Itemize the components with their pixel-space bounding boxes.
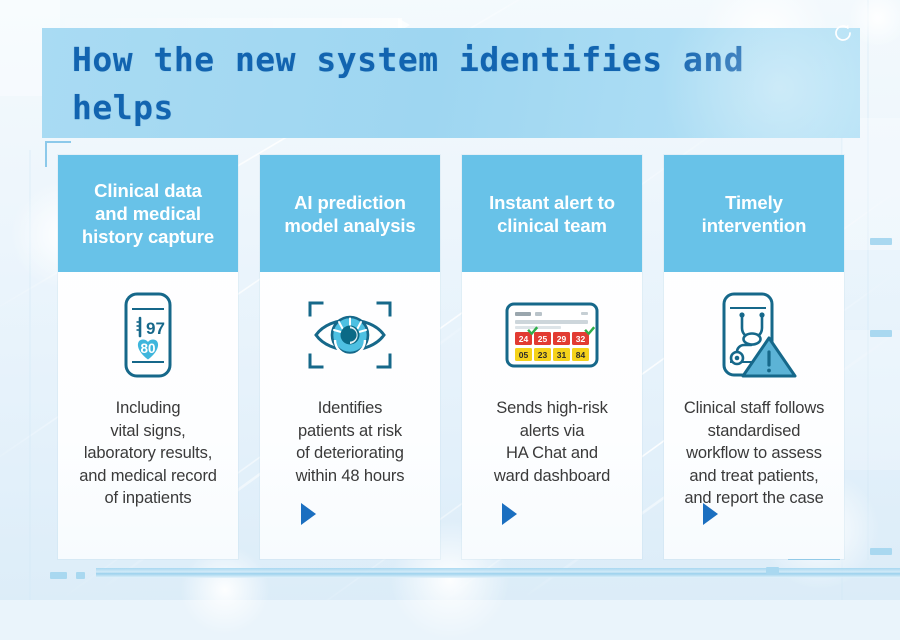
- dash-mark: [870, 238, 892, 245]
- dash-mark: [870, 330, 892, 337]
- svg-text:84: 84: [576, 350, 586, 360]
- svg-text:05: 05: [519, 350, 529, 360]
- step-heading-2: AI prediction model analysis: [260, 155, 440, 272]
- step-body-2: Identifies patients at risk of deteriora…: [292, 397, 409, 487]
- dash-mark: [870, 548, 892, 555]
- dash-mark: [50, 572, 67, 579]
- dash-mark: [766, 567, 779, 574]
- step-heading-3: Instant alert to clinical team: [462, 155, 642, 272]
- svg-text:31: 31: [557, 350, 567, 360]
- svg-text:23: 23: [538, 350, 548, 360]
- step-heading-1: Clinical data and medical history captur…: [58, 155, 238, 272]
- connector-arrow-2: [502, 503, 517, 525]
- step-icon-1: 97 80: [119, 272, 177, 397]
- step-card-3[interactable]: Instant alert to clinical team 24 25: [462, 155, 642, 559]
- scanning-eye-icon: [306, 299, 394, 371]
- svg-text:25: 25: [538, 334, 548, 344]
- step-card-4[interactable]: Timely intervention: [664, 155, 844, 559]
- svg-text:24: 24: [519, 334, 529, 344]
- step-body-1: Including vital signs, laboratory result…: [75, 397, 221, 510]
- stethoscope-warning-icon: [711, 290, 797, 380]
- step-card-2[interactable]: AI prediction model analysis: [260, 155, 440, 559]
- step-card-1[interactable]: Clinical data and medical history captur…: [58, 155, 238, 559]
- phone-vitals-icon: 97 80: [119, 291, 177, 379]
- svg-text:32: 32: [576, 334, 586, 344]
- connector-arrow-3: [703, 503, 718, 525]
- step-body-3: Sends high-risk alerts via HA Chat and w…: [490, 397, 614, 487]
- page-title: How the new system identifies and helps …: [72, 36, 832, 138]
- process-steps: Clinical data and medical history captur…: [58, 155, 844, 559]
- step-body-4: Clinical staff follows standardised work…: [680, 397, 828, 510]
- step-icon-3: 24 25 29 32 05 23 31 84: [505, 272, 599, 397]
- title-bar: How the new system identifies and helps …: [42, 28, 860, 138]
- connector-arrow-1: [301, 503, 316, 525]
- temperature-value: 97: [146, 319, 165, 338]
- step-heading-4: Timely intervention: [664, 155, 844, 272]
- bottom-rule: [96, 568, 900, 578]
- heart-rate-value: 80: [140, 341, 155, 356]
- dash-mark: [76, 572, 85, 579]
- step-icon-4: [711, 272, 797, 397]
- svg-text:29: 29: [557, 334, 567, 344]
- step-icon-2: [306, 272, 394, 397]
- ward-dashboard-icon: 24 25 29 32 05 23 31 84: [505, 302, 599, 368]
